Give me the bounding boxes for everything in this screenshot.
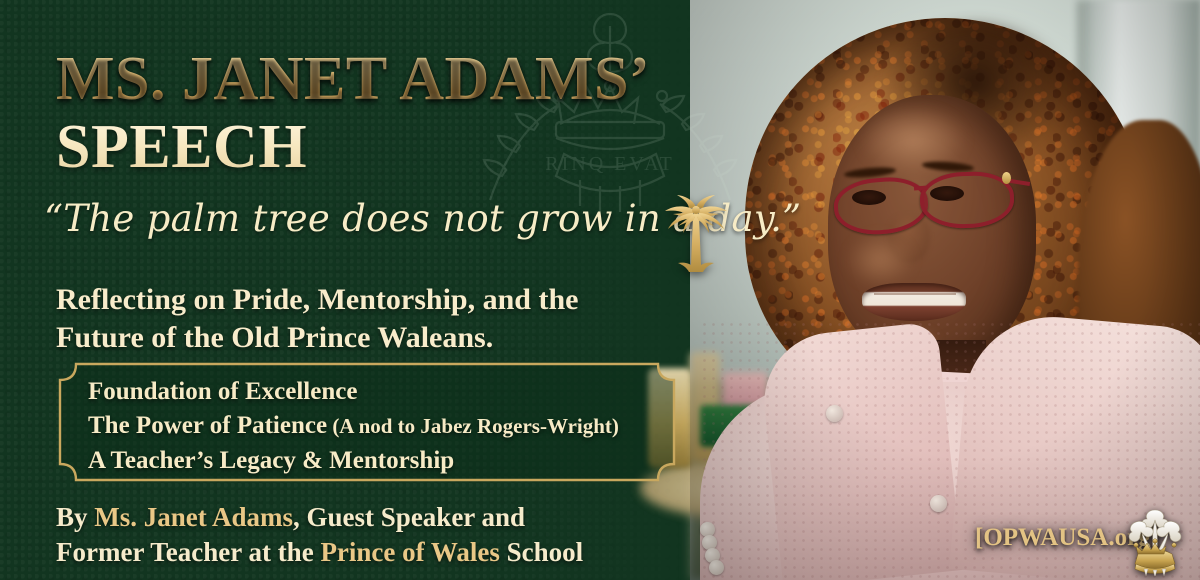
byline: By Ms. Janet Adams, Guest Speaker and Fo…	[56, 500, 583, 570]
byline-school-name: Prince of Wales	[320, 537, 499, 567]
topic-main-2: A Teacher’s Legacy & Mentorship	[88, 447, 454, 474]
prince-of-wales-feathers-icon	[1122, 506, 1188, 576]
lens-left	[832, 175, 930, 237]
topic-main-1: The Power of Patience	[88, 412, 327, 439]
photo-vignette	[690, 0, 1200, 580]
list-item: Foundation of Excellence	[88, 375, 619, 409]
speech-announcement-banner: RINQ EVAT MS. JANET ADAMS’ SPEECH “The p…	[0, 0, 1200, 580]
topic-note-1: (A nod to Jabez Rogers-Wright)	[327, 414, 619, 438]
byline-line2-prefix: Former Teacher at the	[56, 537, 320, 567]
page-title-line-2: SPEECH	[56, 116, 307, 178]
page-title-line-1: MS. JANET ADAMS’	[56, 48, 650, 110]
palm-tree-icon	[660, 186, 732, 278]
earring	[1002, 172, 1011, 184]
topics-box: Foundation of Excellence The Power of Pa…	[58, 362, 676, 482]
subtitle: Reflecting on Pride, Mentorship, and the…	[56, 281, 578, 358]
topics-list: Foundation of Excellence The Power of Pa…	[88, 375, 619, 478]
lens-right	[919, 170, 1015, 229]
list-item: A Teacher’s Legacy & Mentorship	[88, 444, 619, 478]
subtitle-line-1: Reflecting on Pride, Mentorship, and the	[56, 283, 578, 316]
eyeglasses	[828, 168, 1018, 228]
byline-role: , Guest Speaker and	[293, 502, 525, 532]
subtitle-line-2: Future of the Old Prince Waleans.	[56, 321, 493, 354]
byline-line2-suffix: School	[500, 537, 583, 567]
topic-main-0: Foundation of Excellence	[88, 378, 357, 405]
byline-speaker-name: Ms. Janet Adams	[94, 502, 293, 532]
list-item: The Power of Patience (A nod to Jabez Ro…	[88, 409, 619, 443]
text-content: MS. JANET ADAMS’ SPEECH “The palm tree d…	[0, 0, 760, 580]
byline-prefix: By	[56, 502, 94, 532]
